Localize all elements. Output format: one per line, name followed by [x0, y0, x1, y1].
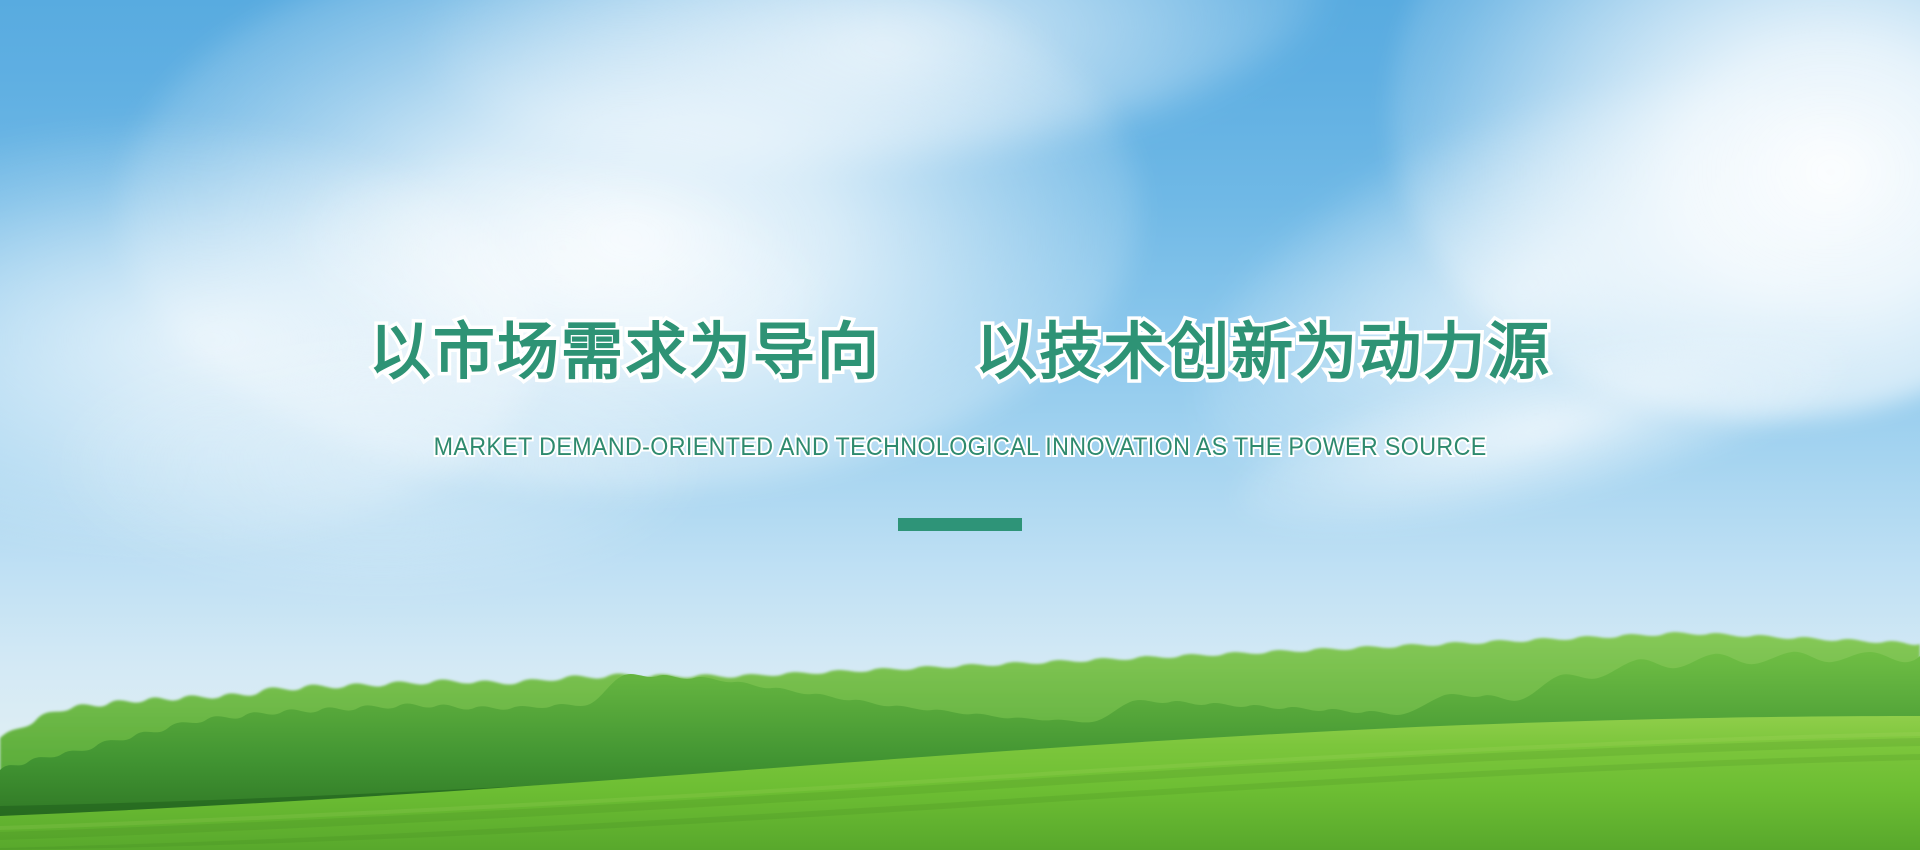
- cloud-wisp-top-center: [419, 0, 1342, 199]
- divider-bar: [898, 518, 1022, 531]
- landscape-svg: [0, 620, 1920, 850]
- hero-banner: 以市场需求为导向 以技术创新为动力源 MARKET DEMAND-ORIENTE…: [0, 0, 1920, 850]
- divider-wrapper: [0, 518, 1920, 536]
- subtitle: MARKET DEMAND-ORIENTED AND TECHNOLOGICAL…: [0, 432, 1920, 462]
- headline: 以市场需求为导向 以技术创新为动力源: [0, 316, 1920, 388]
- subtitle-text: MARKET DEMAND-ORIENTED AND TECHNOLOGICAL…: [433, 432, 1486, 462]
- cloud-streak-right: [1144, 1, 1917, 569]
- cloud-mass-upper-left: [120, 0, 1140, 490]
- headline-text: 以市场需求为导向 以技术创新为动力源: [0, 316, 1920, 388]
- landscape-scene: [0, 620, 1920, 850]
